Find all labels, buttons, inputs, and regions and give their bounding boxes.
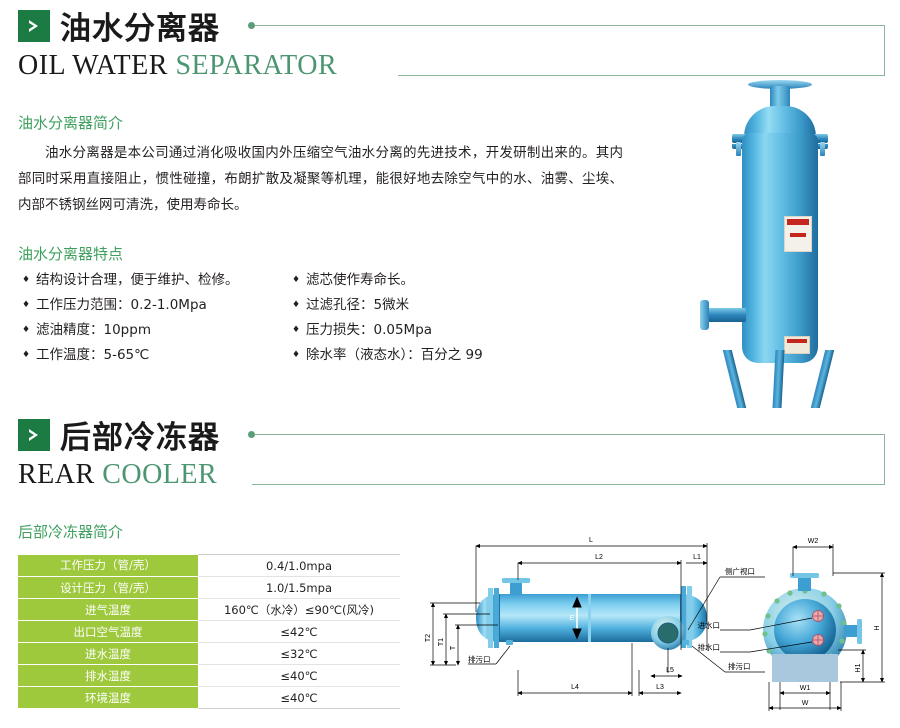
callout-label-drain-right: 排污口: [728, 661, 751, 671]
dim-label-L2: L2: [595, 554, 603, 561]
rule-dot-1: [248, 22, 255, 29]
dim-label-T1: T1: [438, 638, 445, 646]
feature-item: 结构设计合理，便于维护、检修。: [22, 268, 292, 293]
vessel-side-flange: [700, 300, 709, 330]
rule-dot-2: [248, 431, 255, 438]
dim-label-W: W: [802, 700, 809, 707]
callout-label-water-outlet: 排水口: [698, 642, 721, 652]
table-row: 工作压力（管/壳） 0.4/1.0mpa: [18, 555, 400, 577]
rule-top-1: [255, 25, 884, 26]
features-heading-1: 油水分离器特点: [18, 243, 123, 264]
vessel-bolt: [820, 142, 825, 156]
feature-item: 工作压力范围：0.2-1.0Mpa: [22, 293, 292, 318]
rule-bottom-1: [398, 75, 885, 76]
vessel-nameplate-upper: [784, 216, 812, 252]
feature-item: 滤油精度：10ppm: [22, 318, 292, 343]
vessel-nameplate-lower: [784, 336, 810, 354]
dim-label-H1: H1: [855, 663, 862, 672]
vessel-leg: [811, 350, 834, 408]
vessel-leg: [772, 350, 784, 408]
spec-value: 1.0/1.5mpa: [198, 577, 400, 599]
spec-key: 环境温度: [18, 687, 198, 709]
spec-value: 0.4/1.0mpa: [198, 555, 400, 577]
feature-item: 压力损失：0.05Mpa: [292, 318, 592, 343]
dim-label-T: T: [450, 645, 457, 650]
rule-right-2: [884, 434, 885, 484]
section-title-en-part1: OIL WATER: [18, 50, 175, 81]
spec-key: 出口空气温度: [18, 621, 198, 643]
spec-value: ≤42℃: [198, 621, 400, 643]
dim-label-L1: L1: [693, 554, 701, 561]
rule-bottom-2: [252, 484, 885, 485]
callout-label-water-inlet: 进水口: [698, 620, 721, 630]
spec-value: 160℃（水冷）≤90℃(风冷): [198, 599, 400, 621]
spec-value: ≤32℃: [198, 643, 400, 665]
rear-cooler-technical-drawing: E L L2 L1 T2: [420, 530, 900, 728]
feature-item: 除水率（液态水）：百分之 99: [292, 343, 592, 368]
features-column-left: 结构设计合理，便于维护、检修。 工作压力范围：0.2-1.0Mpa 滤油精度：1…: [22, 268, 292, 368]
spec-key: 进气温度: [18, 599, 198, 621]
table-row: 排水温度 ≤40℃: [18, 665, 400, 687]
feature-item: 滤芯使作寿命长。: [292, 268, 592, 293]
rule-top-2: [255, 434, 884, 435]
table-row: 设计压力（管/壳） 1.0/1.5mpa: [18, 577, 400, 599]
vessel-side-pipe: [706, 308, 746, 322]
section-title-en-part2: SEPARATOR: [175, 50, 337, 81]
spec-table: 工作压力（管/壳） 0.4/1.0mpa 设计压力（管/壳） 1.0/1.5mp…: [18, 554, 400, 709]
spec-value: ≤40℃: [198, 665, 400, 687]
intro-body-1: 油水分离器是本公司通过消化吸收国内外压缩空气油水分离的先进技术，开发研制出来的。…: [18, 140, 623, 218]
features-column-right: 滤芯使作寿命长。 过滤孔径：5微米 压力损失：0.05Mpa 除水率（液态水）：…: [292, 268, 592, 368]
section-title-en-part1: REAR: [18, 459, 102, 490]
callout-label-drain-left: 排污口: [468, 654, 491, 664]
section-title-cn: 后部冷冻器: [60, 412, 220, 457]
table-row: 进气温度 160℃（水冷）≤90℃(风冷): [18, 599, 400, 621]
dim-label-L4: L4: [571, 684, 579, 691]
dim-label-T2: T2: [425, 634, 432, 642]
spec-key: 工作压力（管/壳）: [18, 555, 198, 577]
section-title-en: REAR COOLER: [18, 459, 217, 491]
spec-key: 设计压力（管/壳）: [18, 577, 198, 599]
dim-label-E: E: [569, 615, 574, 622]
table-row: 进水温度 ≤32℃: [18, 643, 400, 665]
dim-label-L3: L3: [656, 684, 664, 691]
feature-item: 过滤孔径：5微米: [292, 293, 592, 318]
brochure-page: 油水分离器 OIL WATER SEPARATOR 油水分离器简介 油水分离器是…: [0, 0, 900, 728]
spec-value: ≤40℃: [198, 687, 400, 709]
table-row: 出口空气温度 ≤42℃: [18, 621, 400, 643]
intro-heading-2: 后部冷冻器简介: [18, 521, 123, 542]
dim-label-W2: W2: [808, 538, 819, 545]
intro-heading-1: 油水分离器简介: [18, 112, 123, 133]
dim-label-H: H: [874, 625, 881, 630]
section-title-cn: 油水分离器: [60, 3, 220, 48]
table-row: 环境温度 ≤40℃: [18, 687, 400, 709]
arrow-right-icon: [18, 419, 50, 451]
dim-label-L5: L5: [666, 667, 674, 674]
section-title-en-part2: COOLER: [102, 459, 217, 490]
section-title-en: OIL WATER SEPARATOR: [18, 50, 337, 82]
spec-key: 进水温度: [18, 643, 198, 665]
rule-right-1: [884, 25, 885, 75]
vessel-leg: [723, 350, 746, 408]
dim-label-L: L: [589, 537, 593, 544]
dim-label-W1: W1: [800, 685, 811, 692]
separator-vessel-photo: [700, 78, 870, 408]
vessel-bolt: [736, 142, 741, 156]
spec-key: 排水温度: [18, 665, 198, 687]
arrow-right-icon: [18, 10, 50, 42]
callout-label-side-port: 侧广视口: [725, 566, 755, 576]
feature-item: 工作温度：5-65℃: [22, 343, 292, 368]
